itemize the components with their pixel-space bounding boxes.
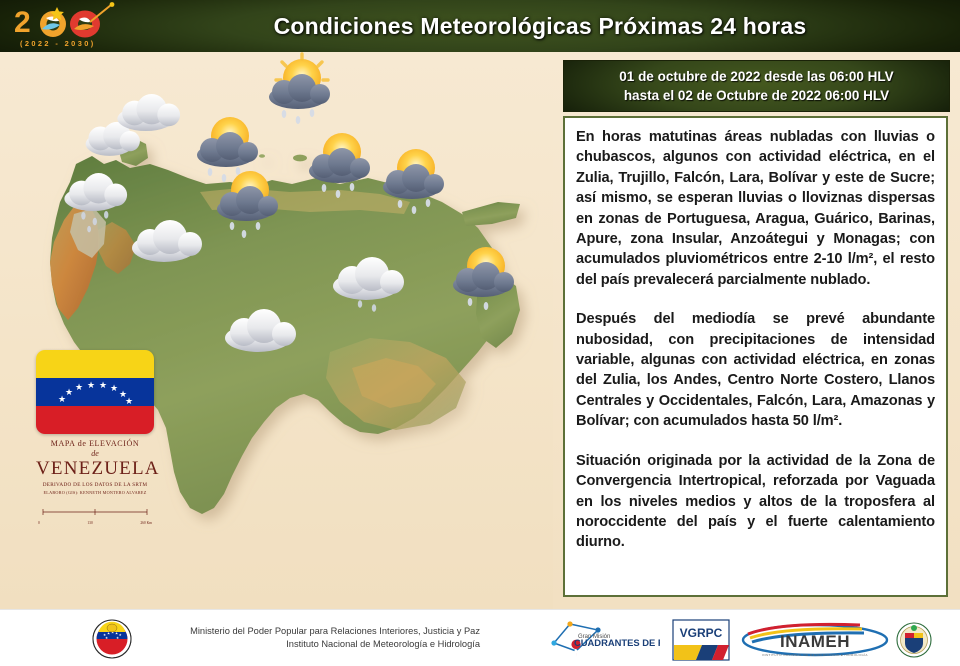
ministry-text: Ministerio del Poder Popular para Relaci… (150, 625, 480, 650)
venezuela-elevation-map (0, 52, 553, 609)
date-range-line-2: hasta el 02 de Octubre de 2022 06:00 HLV (624, 86, 889, 105)
legend-title: VENEZUELA (36, 458, 154, 480)
legend-line-3: DERIVADO DE LOS DATOS DE LA SRTM (36, 482, 154, 488)
map-legend: ★ ★ ★ ★ ★ ★ ★ ★ MAPA de ELEVACIÓN de VEN… (36, 350, 154, 525)
bicentenary-years-label: (2022 - 2030) (20, 39, 96, 48)
scale-label-max: 260 Km (140, 521, 152, 525)
institution-shield-logo (896, 621, 932, 659)
legend-line-4: ELABORO (GIS): KENNETH MONTERO ALVAREZ (36, 490, 154, 495)
page-header: 2 (2022 - 2030) Condiciones Meteorológic… (0, 0, 960, 52)
svg-text:★: ★ (115, 631, 118, 635)
svg-text:★: ★ (105, 636, 108, 640)
inameh-subtitle: INSTITUTO NACIONAL DE METEOROLOGÍA E HID… (762, 653, 868, 657)
scale-label-0: 0 (38, 521, 40, 525)
svg-text:★: ★ (107, 631, 110, 635)
legend-scale-bar: 0 130 260 Km (36, 502, 154, 525)
inameh-label: INAMEH (780, 632, 850, 651)
svg-text:★: ★ (119, 633, 122, 637)
cuadrantes-main-label: CUADRANTES DE PAZ (574, 637, 660, 648)
ministry-line-1: Ministerio del Poder Popular para Relaci… (150, 625, 480, 638)
venezuela-flag: ★ ★ ★ ★ ★ ★ ★ ★ (36, 350, 154, 434)
scale-label-mid: 130 (87, 521, 92, 525)
legend-line-1: MAPA de ELEVACIÓN (36, 439, 154, 448)
cloud-icon (117, 94, 180, 131)
inameh-logo: INAMEH INSTITUTO NACIONAL DE METEOROLOGÍ… (740, 622, 890, 658)
vgrpc-label: VGRPC (680, 626, 723, 640)
date-range-line-1: 01 de octubre de 2022 desde las 06:00 HL… (619, 67, 893, 86)
svg-text:★: ★ (116, 636, 119, 640)
forecast-column: 01 de octubre de 2022 desde las 06:00 HL… (553, 52, 960, 609)
map-panel: ★ ★ ★ ★ ★ ★ ★ ★ MAPA de ELEVACIÓN de VEN… (0, 52, 555, 609)
forecast-paragraph-morning: En horas matutinas áreas nubladas con ll… (576, 127, 935, 290)
forecast-paragraph-cause: Situación originada por la actividad de … (576, 451, 935, 553)
page-footer: ★★★ ★★★ ★ Ministerio del Poder Popular p… (0, 609, 960, 666)
forecast-text-box: En horas matutinas áreas nubladas con ll… (563, 116, 948, 597)
ministry-line-2: Instituto Nacional de Meteorología e Hid… (150, 638, 480, 651)
page-title: Condiciones Meteorológicas Próximas 24 h… (130, 0, 950, 52)
weather-infographic-page: 2 (2022 - 2030) Condiciones Meteorológic… (0, 0, 960, 666)
gran-mision-cuadrantes-de-paz-logo: Gran Misión CUADRANTES DE PAZ (540, 621, 660, 659)
venezuela-coat-of-arms: ★★★ ★★★ ★ (92, 619, 132, 659)
sun-rain-cloud-icon (269, 54, 330, 124)
vgrpc-logo: VGRPC (672, 619, 730, 661)
svg-text:2: 2 (14, 6, 31, 39)
bicentenary-200-logo: 2 (2022 - 2030) (12, 2, 120, 50)
forecast-date-box: 01 de octubre de 2022 desde las 06:00 HL… (563, 60, 950, 112)
forecast-paragraph-afternoon: Después del mediodía se prevé abundante … (576, 309, 935, 431)
legend-line-2: de (36, 449, 154, 458)
